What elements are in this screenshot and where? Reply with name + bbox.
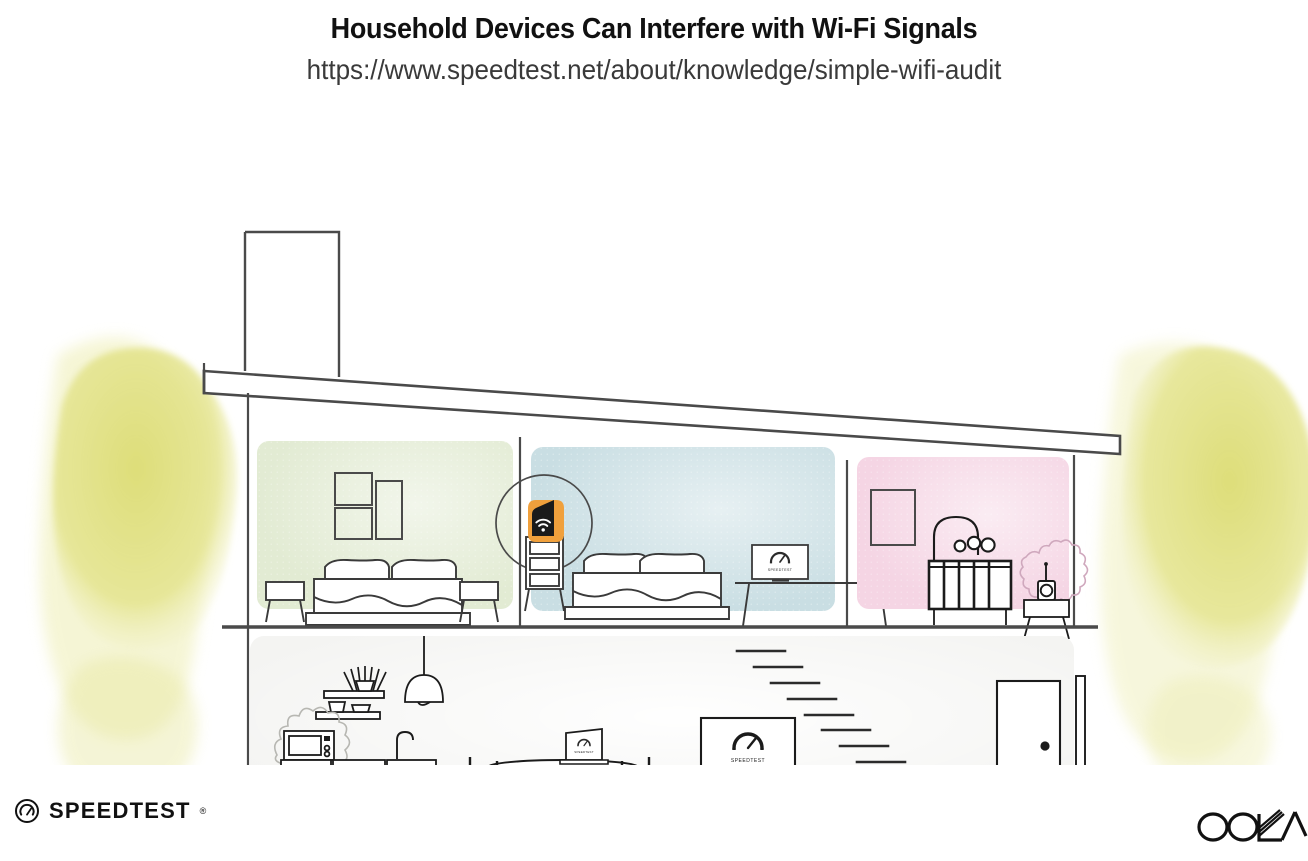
- microwave: [284, 731, 334, 760]
- speedtest-gauge-icon: [14, 798, 40, 824]
- foliage-left: [39, 337, 237, 765]
- blue-bed: [565, 554, 729, 619]
- tv-screen-label: SPEEDTEST: [731, 758, 765, 764]
- front-door[interactable]: [997, 681, 1060, 765]
- chimney: [245, 232, 339, 377]
- ookla-stripes: [1259, 810, 1284, 836]
- television: SPEEDTEST: [701, 718, 795, 765]
- speedtest-logo: SPEEDTEST ®: [14, 798, 206, 824]
- ground-floor-room: [250, 636, 1074, 765]
- nursery-side-table: [1024, 600, 1069, 639]
- header: Household Devices Can Interfere with Wi-…: [0, 0, 1308, 86]
- source-url: https://www.speedtest.net/about/knowledg…: [46, 53, 1262, 87]
- side-window: [1076, 676, 1085, 765]
- crib: [929, 561, 1011, 625]
- monitor: SPEEDTEST: [752, 545, 808, 582]
- foliage-right: [1101, 343, 1308, 765]
- page-root: Household Devices Can Interfere with Wi-…: [0, 0, 1308, 861]
- kitchen-cabinets: [281, 760, 436, 765]
- house-illustration: SPEEDTEST: [0, 105, 1308, 765]
- footer: SPEEDTEST ®: [0, 780, 1308, 861]
- ookla-logo: [1196, 806, 1308, 851]
- laptop: SPEEDTEST: [560, 729, 608, 764]
- speedtest-trademark: ®: [200, 806, 207, 816]
- speedtest-wordmark: SPEEDTEST: [49, 798, 191, 824]
- ookla-wordmark-glyphs: [1199, 812, 1306, 840]
- monitor-screen-label: SPEEDTEST: [768, 568, 793, 572]
- door-knob: [1040, 741, 1049, 750]
- green-bed: [306, 560, 470, 625]
- laptop-screen-label: SPEEDTEST: [574, 750, 593, 754]
- page-title: Household Devices Can Interfere with Wi-…: [46, 12, 1262, 47]
- kitchen-wall-shelf-upper: [324, 691, 384, 698]
- wifi-router[interactable]: [528, 500, 564, 542]
